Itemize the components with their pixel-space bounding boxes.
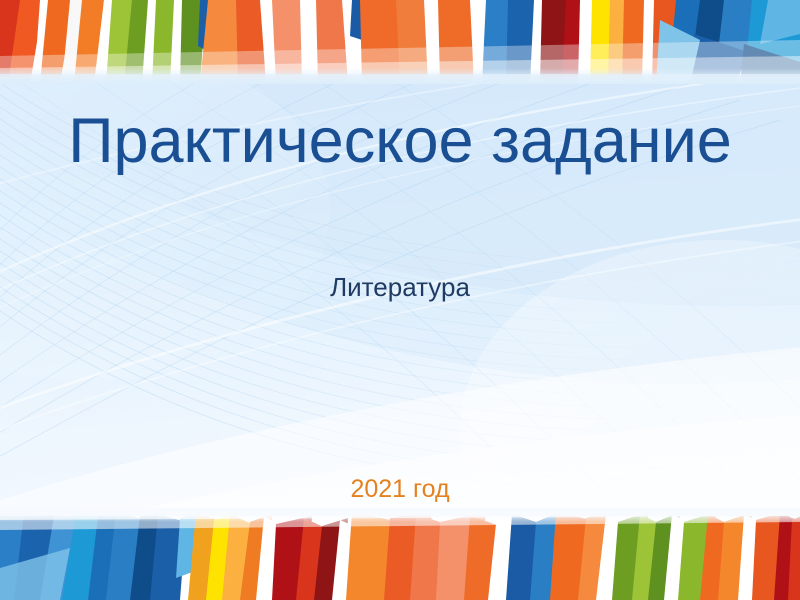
presentation-slide: Практическое задание Литература 2021 год <box>0 0 800 600</box>
slide-year: 2021 год <box>0 475 800 504</box>
slide-title: Практическое задание <box>0 108 800 174</box>
slide-subtitle: Литература <box>0 272 800 303</box>
slide-content: Практическое задание Литература 2021 год <box>0 0 800 600</box>
